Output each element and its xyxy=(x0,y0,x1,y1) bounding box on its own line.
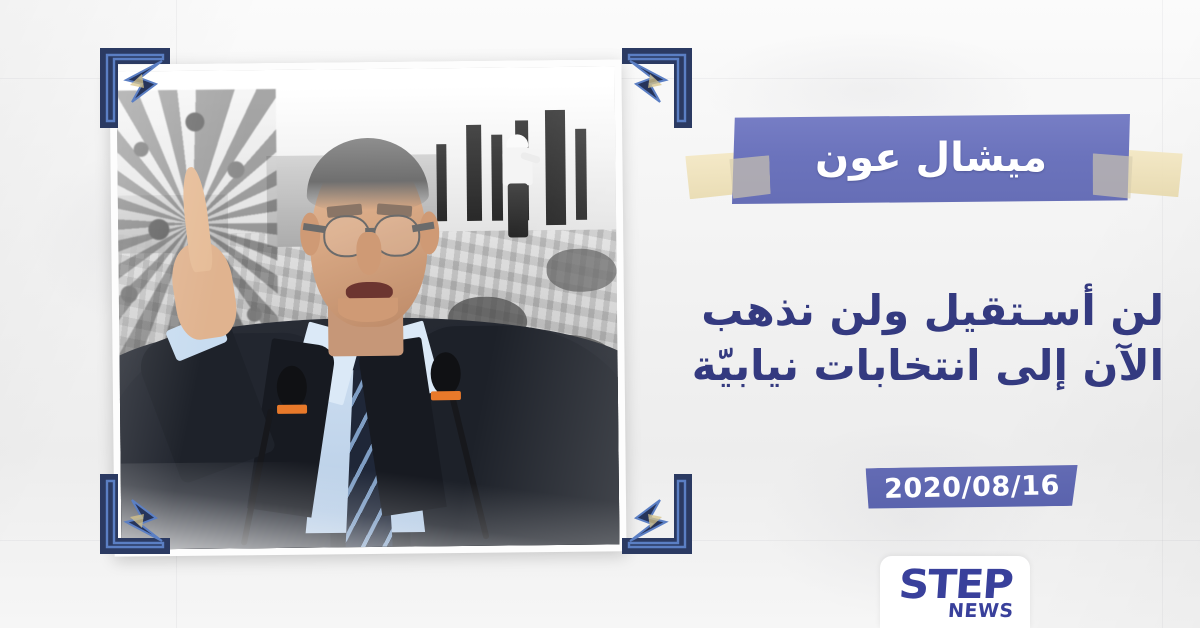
logo-primary-text: STEP xyxy=(897,567,1013,604)
subject-hair xyxy=(306,138,429,211)
corner-bracket-top-left-icon xyxy=(96,44,174,132)
headline-line-1: لن أسـتقيل ولن نذهب xyxy=(634,284,1164,339)
date-badge-value: 2020/08/16 xyxy=(884,470,1061,505)
corner-bracket-top-right-icon xyxy=(618,44,696,132)
corner-bracket-bottom-left-icon xyxy=(96,470,174,558)
headline-line-2: الآن إلى انتخابات نيابيّة xyxy=(634,339,1164,394)
news-photo xyxy=(109,59,626,556)
name-banner-label: ميشال عون xyxy=(815,135,1047,184)
logo-secondary-text: NEWS xyxy=(948,602,1015,621)
photo-frame xyxy=(109,59,626,556)
step-news-logo: STEP NEWS xyxy=(880,556,1030,628)
microphone-band xyxy=(431,391,461,401)
name-banner: ميشال عون xyxy=(732,114,1130,204)
microphone-band xyxy=(277,404,307,414)
headline: لن أسـتقيل ولن نذهب الآن إلى انتخابات ني… xyxy=(634,284,1164,393)
date-badge: 2020/08/16 xyxy=(866,464,1079,510)
microphone-head xyxy=(276,366,306,409)
subject-ear-left xyxy=(300,213,320,256)
news-card: ميشال عون لن أسـتقيل ولن نذهب الآن إلى ا… xyxy=(0,0,1200,628)
photo-subject xyxy=(117,66,620,549)
tape-strip-right-overlay xyxy=(1091,153,1133,198)
subject-ear-right xyxy=(419,212,439,255)
corner-bracket-bottom-right-icon xyxy=(618,470,696,558)
tape-strip-left-overlay xyxy=(729,155,770,198)
subject-nose xyxy=(356,231,381,274)
